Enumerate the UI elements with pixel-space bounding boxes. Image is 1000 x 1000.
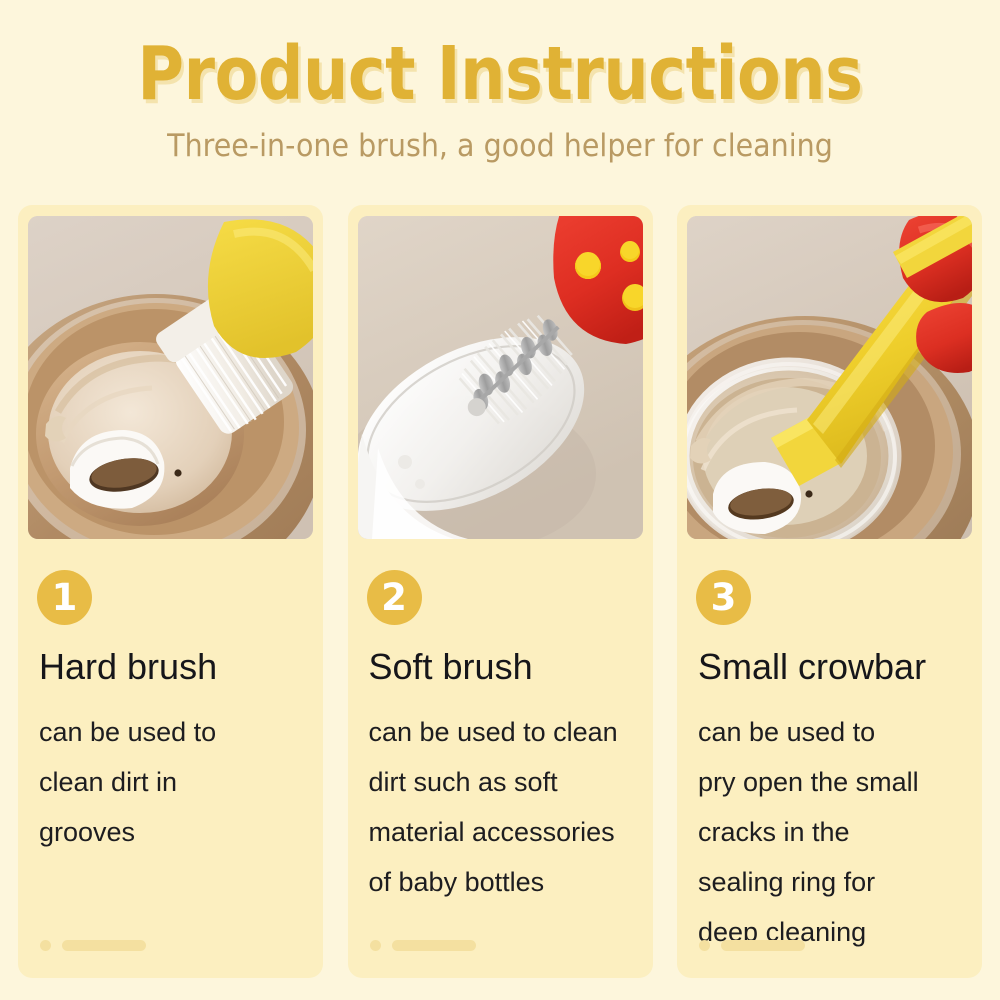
card-body-text: can be used to clean dirt in grooves — [39, 707, 314, 857]
body-line: can be used to — [698, 707, 973, 757]
decorative-dot-icon — [40, 940, 51, 951]
card-footer-decoration — [40, 940, 146, 951]
step-number-badge: 3 — [696, 570, 751, 625]
page-title: Product Instructions — [70, 34, 930, 114]
decorative-dot-icon — [699, 940, 710, 951]
card-heading: Soft brush — [369, 646, 641, 688]
body-line: can be used to clean — [369, 707, 644, 757]
body-line: dirt such as soft — [369, 757, 644, 807]
step-number-badge: 2 — [367, 570, 422, 625]
body-line: cracks in the — [698, 807, 973, 857]
instruction-cards-row: 1 Hard brush can be used to clean dirt i… — [18, 205, 982, 978]
decorative-bar-icon — [721, 940, 805, 951]
body-line: material accessories — [369, 807, 644, 857]
body-line: can be used to — [39, 707, 314, 757]
body-line: sealing ring for — [698, 857, 973, 907]
card-body-text: can be used to pry open the small cracks… — [698, 707, 973, 957]
page-subtitle: Three-in-one brush, a good helper for cl… — [40, 128, 960, 164]
decorative-bar-icon — [62, 940, 146, 951]
card-body-text: can be used to clean dirt such as soft m… — [369, 707, 644, 907]
instruction-card-1: 1 Hard brush can be used to clean dirt i… — [18, 205, 323, 978]
card-footer-decoration — [370, 940, 476, 951]
instruction-card-2: 2 Soft brush can be used to clean dirt s… — [348, 205, 653, 978]
decorative-dot-icon — [370, 940, 381, 951]
page-header: Product Instructions Three-in-one brush,… — [0, 0, 1000, 164]
body-line: of baby bottles — [369, 857, 644, 907]
soft-brush-cleaning-bottle-accessory-photo — [358, 216, 643, 539]
card-footer-decoration — [699, 940, 805, 951]
card-heading: Small crowbar — [698, 646, 970, 688]
instruction-card-3: 3 Small crowbar can be used to pry open … — [677, 205, 982, 978]
decorative-bar-icon — [392, 940, 476, 951]
crowbar-prying-sealing-ring-photo — [687, 216, 972, 539]
step-number-badge: 1 — [37, 570, 92, 625]
hard-brush-cleaning-lid-grooves-photo — [28, 216, 313, 539]
card-heading: Hard brush — [39, 646, 311, 688]
body-line: clean dirt in — [39, 757, 314, 807]
body-line: pry open the small — [698, 757, 973, 807]
body-line: grooves — [39, 807, 314, 857]
